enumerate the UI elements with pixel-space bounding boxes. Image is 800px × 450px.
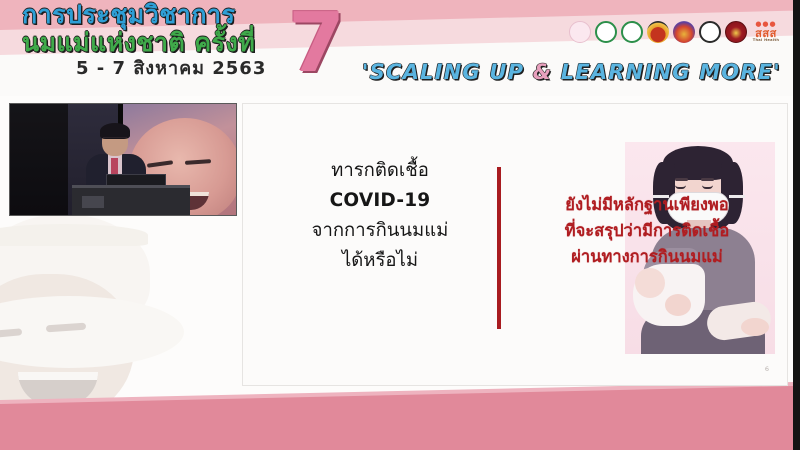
thaihealth-sublabel: Thai Health: [753, 39, 780, 43]
thaihealth-logo: ●●● สสส Thai Health: [751, 20, 781, 44]
slide-page-number: 6: [765, 365, 769, 373]
question-line-2: COVID-19: [265, 186, 495, 216]
royal-college-logo: [673, 21, 695, 43]
podium-panel: [82, 196, 104, 208]
question-line-3: จากการกินนมแม่: [265, 216, 495, 246]
question-text-block: ทารกติดเชื้อ COVID-19 จากการกินนมแม่ ได้…: [265, 156, 495, 276]
speaker-video-thumbnail[interactable]: [9, 103, 237, 216]
slogan-ampersand: &: [533, 60, 553, 84]
conference-title: การประชุมวิชาการ นมแม่แห่งชาติ ครั้งที่ …: [22, 2, 266, 78]
child-hat-brim: [0, 296, 184, 368]
slide-header-banner: 7 การประชุมวิชาการ นมแม่แห่งชาติ ครั้งที…: [0, 0, 793, 96]
mother-eyebrow-left: [675, 178, 688, 181]
conference-title-line1: การประชุมวิชาการ: [22, 2, 266, 27]
health-department-logo: [621, 21, 643, 43]
edition-number: 7: [288, 0, 345, 91]
conference-date: 5 - 7 สิงหาคม 2563: [76, 60, 266, 78]
breastfeeding-foundation-logo: [569, 21, 591, 43]
nursing-council-logo: [699, 21, 721, 43]
answer-line-3: ผ่านทางการกินนมแม่: [507, 244, 787, 270]
answer-line-1: ยังไม่มีหลักฐานเพียงพอ: [507, 192, 787, 218]
vertical-red-divider: [497, 167, 501, 329]
slogan-prefix: 'SCALING UP: [362, 60, 533, 84]
stage-wall-left: [10, 104, 68, 215]
answer-line-2: ที่จะสรุปว่ามีการติดเชื้อ: [507, 218, 787, 244]
video-letterbox-right: [793, 0, 800, 450]
speaker-tie: [111, 158, 118, 174]
presentation-slide: 7 การประชุมวิชาการ นมแม่แห่งชาติ ครั้งที…: [0, 0, 800, 450]
podium: [72, 185, 190, 215]
speaker-glasses-icon: [103, 137, 127, 143]
ministry-public-health-logo: [595, 21, 617, 43]
question-line-1: ทารกติดเชื้อ: [265, 156, 495, 186]
conference-slogan: 'SCALING UP & LEARNING MORE': [362, 60, 781, 84]
royal-emblem-logo: [647, 21, 669, 43]
mother-eyebrow-right: [701, 178, 714, 181]
baby-head: [635, 268, 665, 298]
organization-logo-strip: ●●● สสส Thai Health: [569, 20, 781, 44]
question-line-4: ได้หรือไม่: [265, 246, 495, 276]
mother-foot: [741, 318, 769, 336]
conference-title-line2: นมแม่แห่งชาติ ครั้งที่: [22, 30, 266, 55]
answer-text-block: ยังไม่มีหลักฐานเพียงพอ ที่จะสรุปว่ามีการ…: [507, 192, 787, 270]
slide-content-card: ทารกติดเชื้อ COVID-19 จากการกินนมแม่ ได้…: [242, 103, 788, 386]
medical-council-logo: [725, 21, 747, 43]
mother-hand: [665, 294, 691, 316]
child-hat-band: [0, 224, 148, 246]
slogan-suffix: LEARNING MORE': [552, 60, 781, 84]
